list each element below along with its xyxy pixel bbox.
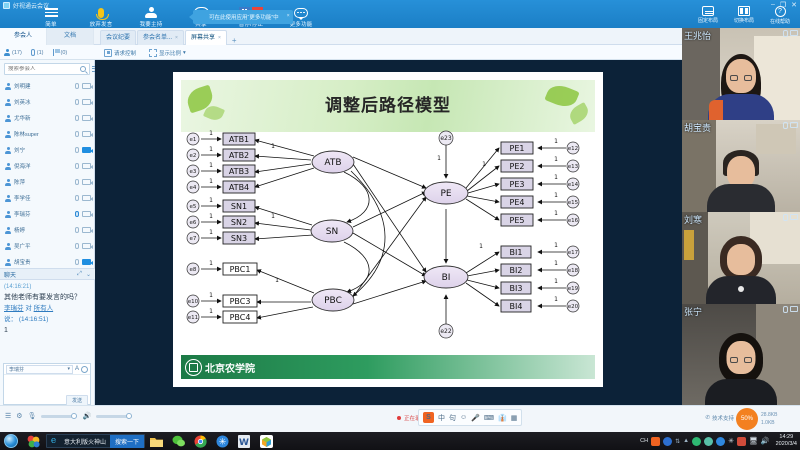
svg-text:e19: e19 (568, 286, 579, 292)
list-item[interactable]: 陈林super (0, 126, 95, 142)
participant-name: 胡宝贵 (14, 258, 72, 266)
svg-text:1: 1 (554, 260, 558, 267)
volume-icon[interactable]: 🔊 (761, 437, 770, 445)
send-button[interactable]: 发送 (66, 395, 88, 406)
svg-text:1: 1 (209, 213, 213, 220)
shared-screen-stage[interactable]: 调整后路径模型 (95, 60, 682, 405)
svg-text:1: 1 (554, 156, 558, 163)
svg-text:1: 1 (209, 130, 213, 137)
audio-controls: ☰ ⚙ 🎙 🔊 (5, 412, 132, 420)
display-ratio-button[interactable]: 显示比例 ▾ (149, 49, 186, 57)
video-column: 王兆怡 胡宝贵 (682, 28, 800, 405)
camera-icon[interactable] (790, 122, 798, 128)
svg-text:e18: e18 (568, 268, 579, 274)
svg-text:ATB: ATB (324, 158, 341, 168)
camera-icon[interactable] (82, 99, 91, 105)
record-dot-icon (397, 416, 401, 420)
tab-strip: 参会人 文档 会议纪要 参会名单... × 屏幕共享 × + (0, 28, 800, 45)
avatar-icon (5, 99, 11, 106)
camera-icon[interactable] (82, 115, 91, 121)
participant-name: 尤华新 (14, 114, 72, 122)
svg-text:1: 1 (209, 146, 213, 153)
camera-icon[interactable] (82, 163, 91, 169)
toolbar-button-become-host[interactable]: 我要主持 (126, 6, 176, 28)
mic-icon[interactable] (783, 306, 788, 313)
participant-name: 倪海洋 (14, 162, 72, 170)
layout-fixed-icon (702, 6, 714, 16)
chat-input-area: 李瑞芬 ▾ A 发送 (3, 363, 91, 405)
svg-text:PE5: PE5 (510, 216, 525, 225)
left-panel: 刘明建 刘英冰 尤华新 陈林sup (0, 60, 95, 405)
message-text: 其他老师有要发言的吗？ (4, 292, 91, 303)
toolbar-label: 切换布局 (734, 17, 754, 24)
list-item[interactable]: 吴广平 (0, 238, 95, 254)
minimize-icon[interactable]: – (771, 1, 775, 9)
camera-icon[interactable] (790, 30, 798, 36)
svg-text:e16: e16 (568, 218, 579, 224)
svg-text:1: 1 (209, 292, 213, 299)
count-raised-hands: (0) (53, 49, 68, 56)
toolbar-button-give-up-speaking[interactable]: 放弃发言 (76, 6, 126, 28)
svg-text:BI3: BI3 (510, 284, 523, 293)
speaker-icon[interactable]: 🔊 (82, 412, 91, 420)
tech-support-label: 技术支持 (712, 414, 734, 422)
participant-name: 刘宁 (14, 146, 72, 154)
sogou-icon[interactable] (651, 437, 660, 446)
chat-target-value: 李瑞芬 (9, 366, 24, 373)
svg-text:1: 1 (554, 278, 558, 285)
video-tile[interactable]: 王兆怡 (682, 28, 800, 120)
list-icon[interactable]: ☰ (5, 412, 11, 420)
screen: 好视通云会议 简单 放弃发言 我要主持 (0, 0, 800, 450)
list-item[interactable]: 倪海洋 (0, 158, 95, 174)
chat-header: 聊天 ⤢ ⌄ (0, 268, 95, 280)
svg-text:1: 1 (479, 243, 483, 250)
close-icon[interactable]: × (287, 13, 290, 19)
avatar-icon (5, 179, 11, 186)
main-toolbar: 好视通云会议 简单 放弃发言 我要主持 (0, 0, 800, 28)
mic-icon[interactable] (783, 122, 788, 129)
mic-icon[interactable] (783, 214, 788, 221)
toolbar-button-switch-layout[interactable]: 切换布局 (726, 6, 762, 25)
path-model-svg: e1e2 e3e4 e5e6 e7e8 e10e11 (181, 130, 595, 340)
ime-mode[interactable]: 中 (438, 413, 445, 423)
word-icon[interactable]: W (233, 432, 255, 450)
display-ratio-icon (149, 49, 157, 57)
asterisk-icon[interactable]: ✳ (728, 437, 734, 445)
message-time: (14:16:21) (4, 282, 91, 292)
person-icon (4, 49, 10, 56)
list-item[interactable]: 刘英冰 (0, 94, 95, 110)
svg-text:1: 1 (554, 210, 558, 217)
avatar-icon (5, 131, 11, 138)
message-text: 1 (4, 325, 91, 336)
star-app-icon[interactable]: ✳ (211, 432, 233, 450)
chevron-up-icon[interactable]: ▲ (683, 438, 689, 444)
svg-text:PBC4: PBC4 (230, 313, 251, 322)
svg-text:ATB3: ATB3 (229, 167, 249, 176)
count-value: (17) (12, 50, 22, 56)
chat-target-select[interactable]: 李瑞芬 ▾ (6, 365, 73, 374)
count-value: (0) (61, 50, 68, 56)
ime-voice-icon[interactable]: 🎤 (471, 414, 480, 422)
svg-text:BI4: BI4 (510, 302, 523, 311)
toolbar-label: 简单 (45, 20, 56, 28)
svg-text:ATB2: ATB2 (229, 151, 249, 160)
app-bottom-bar: ☰ ⚙ 🎙 🔊 正在录制 00:47:17 S 中 句 ☺ 🎤 ⌨ 👔 ▦ (0, 405, 800, 432)
mic-icon[interactable] (75, 99, 79, 105)
monitor-icon[interactable]: 🖥 (749, 437, 758, 445)
phone-icon: ✆ (705, 415, 710, 421)
svg-text:e4: e4 (190, 185, 197, 191)
message-say-line: 说： (14:16:51) (4, 314, 91, 325)
ime-punct-icon[interactable]: 句 (449, 413, 456, 423)
camera-icon[interactable] (82, 179, 91, 185)
tech-support[interactable]: ✆ 技术支持 (705, 414, 734, 422)
avatar-icon (5, 163, 11, 170)
tooltip-banner-text: 可在此使用应用“更多功能”中 (209, 13, 279, 21)
chevron-down-icon[interactable]: ▾ (183, 50, 186, 56)
message-sender-line: 李瑞芬 对 所有人 (4, 303, 91, 314)
app-logo-icon (3, 2, 10, 9)
wps-icon[interactable] (255, 432, 277, 450)
toolbar-label: 我要主持 (140, 20, 163, 28)
svg-text:ATB1: ATB1 (229, 135, 249, 144)
svg-text:PE3: PE3 (510, 180, 525, 189)
svg-text:e7: e7 (190, 236, 197, 242)
sogou-icon[interactable]: S (423, 412, 434, 423)
list-item[interactable]: 尤华新 (0, 110, 95, 126)
svg-text:e23: e23 (440, 135, 452, 142)
svg-text:1: 1 (275, 277, 279, 284)
star-icon[interactable] (716, 437, 725, 446)
tray-ime-label[interactable]: CH (640, 438, 648, 444)
window-controls: – ❐ ✕ (771, 1, 797, 9)
chevron-down-icon[interactable]: ▾ (67, 366, 70, 372)
message-target[interactable]: 所有人 (34, 305, 54, 312)
display-ratio-label: 显示比例 (159, 49, 181, 57)
svg-text:1: 1 (554, 296, 558, 303)
mic-icon[interactable] (75, 115, 79, 121)
video-participant-name: 刘寒 (684, 213, 702, 226)
avatar-icon (5, 211, 11, 218)
font-icon[interactable]: A (75, 366, 79, 372)
video-status (783, 122, 798, 129)
ime-toolbar[interactable]: S 中 句 ☺ 🎤 ⌨ 👔 ▦ (418, 409, 522, 426)
svg-text:e3: e3 (190, 169, 197, 175)
svg-text:1: 1 (271, 213, 275, 220)
list-item[interactable]: 陈萍 (0, 174, 95, 190)
avatar-icon (5, 259, 11, 266)
mic-icon[interactable] (75, 83, 79, 89)
microphone-icon (98, 6, 104, 19)
video-participant-name: 王兆怡 (684, 29, 711, 42)
avatar-icon (5, 147, 11, 154)
share-controls: 请求控制 显示比例 ▾ (104, 45, 186, 60)
count-speaking: (1) (31, 49, 44, 56)
emoji-icon[interactable] (81, 366, 88, 373)
doc-tab-label: 会议纪要 (106, 31, 130, 46)
svg-text:W: W (239, 438, 249, 448)
svg-text:PBC3: PBC3 (230, 297, 251, 306)
camera-icon[interactable] (82, 147, 91, 153)
updown-icon[interactable]: ⇅ (675, 438, 680, 445)
flag-icon (53, 49, 59, 56)
camera-icon[interactable] (82, 243, 91, 249)
search-icon[interactable] (80, 66, 86, 72)
svg-text:1: 1 (554, 192, 558, 199)
svg-text:SN3: SN3 (231, 234, 247, 243)
avatar-icon (5, 227, 11, 234)
video-participant-name: 张宁 (684, 305, 702, 318)
chat-title: 聊天 (4, 270, 16, 279)
mic-icon[interactable] (75, 243, 79, 249)
chat-messages: (14:16:21) 其他老师有要发言的吗？ 李瑞芬 对 所有人 说： (14:… (0, 280, 95, 361)
svg-text:1: 1 (209, 162, 213, 169)
video-tile[interactable]: 刘寒 (682, 212, 800, 304)
meeting-app-window: 好视通云会议 简单 放弃发言 我要主持 (0, 0, 800, 432)
svg-text:e20: e20 (568, 304, 579, 310)
message-to-word: 对 (25, 305, 32, 312)
participant-list[interactable]: 刘明建 刘英冰 尤华新 陈林sup (0, 78, 95, 268)
cloud-icon[interactable] (704, 437, 713, 446)
mic-icon[interactable] (75, 195, 79, 201)
participant-name: 杨婷 (14, 226, 72, 234)
svg-text:e15: e15 (568, 200, 579, 206)
mic-icon[interactable] (75, 259, 79, 265)
expand-icon[interactable]: ⤢ (77, 271, 82, 278)
list-item[interactable]: 杨婷 (0, 222, 95, 238)
count-participants: (17) (4, 49, 22, 56)
search-button[interactable]: 搜索一下 (110, 435, 144, 448)
participant-name: 陈林super (14, 130, 72, 138)
mic-icon[interactable] (75, 227, 79, 233)
path-model-diagram: e1e2 e3e4 e5e6 e7e8 e10e11 (181, 130, 595, 340)
chrome-icon[interactable] (189, 432, 211, 450)
svg-text:BI2: BI2 (510, 266, 523, 275)
svg-text:1: 1 (209, 229, 213, 236)
tab-documents[interactable]: 文档 (47, 28, 94, 45)
svg-text:e11: e11 (188, 315, 198, 321)
svg-text:e8: e8 (190, 267, 197, 273)
maximize-icon[interactable]: ❐ (780, 1, 786, 9)
participant-search[interactable] (4, 63, 90, 75)
list-item[interactable]: 李瑞芬 (0, 206, 95, 222)
svg-text:e5: e5 (190, 204, 197, 210)
mic-icon[interactable] (75, 211, 79, 217)
camera-icon[interactable] (82, 83, 91, 89)
tooltip-banner: 可在此使用应用“更多功能”中 × (193, 10, 293, 24)
microphone-icon[interactable]: 🎙 (28, 412, 37, 420)
speaker-volume-slider[interactable] (96, 415, 132, 418)
svg-text:1: 1 (209, 178, 213, 185)
participant-name: 刘英冰 (14, 98, 72, 106)
windows-start-icon[interactable] (0, 432, 22, 450)
svg-text:1: 1 (554, 138, 558, 145)
doc-tab-screen-share[interactable]: 屏幕共享 × (185, 30, 227, 45)
svg-text:1: 1 (554, 242, 558, 249)
toolbar-label: 放弃发言 (90, 20, 113, 28)
ime-emoji-icon[interactable]: ☺ (460, 414, 467, 421)
host-icon (144, 6, 158, 19)
svg-text:1: 1 (554, 174, 558, 181)
camera-icon[interactable] (82, 131, 91, 137)
svg-text:1: 1 (209, 260, 213, 267)
video-participant-name: 胡宝贵 (684, 121, 711, 134)
video-status (783, 214, 798, 221)
folder-icon[interactable] (145, 432, 167, 450)
search-input[interactable] (8, 66, 80, 72)
doc-tab-label: 参会名单... (143, 31, 172, 46)
system-tray: CH ⇅ ▲ ✳ 🖥 🔊 14:29 2020/3/4 (640, 432, 800, 450)
network-icon[interactable] (737, 437, 746, 446)
hamburger-icon (45, 6, 58, 19)
tab-participants[interactable]: 参会人 (0, 28, 47, 45)
svg-text:PE: PE (440, 189, 451, 199)
svg-text:PE1: PE1 (510, 144, 525, 153)
svg-text:1: 1 (482, 161, 486, 168)
svg-text:PBC: PBC (324, 296, 342, 306)
toolbar-button-fixed-layout[interactable]: 固定布局 (690, 6, 726, 25)
svg-text:1: 1 (209, 308, 213, 315)
clock-date: 2020/3/4 (776, 441, 797, 448)
svg-text:e6: e6 (190, 220, 197, 226)
mic-icon[interactable] (783, 30, 788, 37)
gear-icon[interactable]: ⚙ (16, 412, 22, 420)
slide-header: 调整后路径模型 (181, 80, 595, 132)
mic-icon[interactable] (75, 179, 79, 185)
svg-text:e12: e12 (568, 146, 578, 152)
svg-text:ATB4: ATB4 (229, 183, 249, 192)
camera-icon[interactable] (82, 195, 91, 201)
svg-text:✳: ✳ (218, 437, 226, 447)
avatar-icon (5, 115, 11, 122)
mic-volume-slider[interactable] (41, 415, 77, 418)
toolbar-button-menu[interactable]: 简单 (26, 6, 76, 28)
video-tile[interactable]: 胡宝贵 (682, 120, 800, 212)
list-item[interactable]: 李学佳 (0, 190, 95, 206)
svg-text:e17: e17 (568, 250, 579, 256)
internet-explorer-icon: e (47, 436, 60, 446)
video-scene (682, 304, 800, 405)
close-icon[interactable]: ✕ (791, 1, 797, 9)
network-battery-widget[interactable]: 50% 28.8KB 1.0KB (736, 407, 794, 431)
university-logo-icon (185, 359, 202, 376)
list-item[interactable]: 刘宁 (0, 142, 95, 158)
message-time: (14:16:51) (19, 316, 49, 323)
participant-name: 李学佳 (14, 194, 72, 202)
panel-tabs: 参会人 文档 (0, 28, 94, 45)
university-name: 北京农学院 (205, 360, 255, 375)
svg-text:SN1: SN1 (231, 202, 247, 211)
doc-tab-minutes[interactable]: 会议纪要 (100, 30, 136, 45)
layout-switch-icon (738, 6, 750, 16)
request-control-icon (104, 49, 112, 57)
mic-icon[interactable] (75, 147, 79, 153)
slide-title: 调整后路径模型 (181, 91, 595, 116)
svg-text:BI1: BI1 (510, 248, 523, 257)
message-say-word: 说： (4, 316, 17, 323)
toolbar-label: 更多功能 (290, 20, 313, 28)
chat-text-input[interactable] (4, 375, 90, 395)
camera-icon[interactable] (790, 306, 798, 312)
wechat-icon[interactable] (167, 432, 189, 450)
taskbar-clock[interactable]: 14:29 2020/3/4 (773, 434, 797, 448)
ime-toolbox-icon[interactable]: ▦ (511, 414, 518, 422)
participant-name: 吴广平 (14, 242, 72, 250)
camera-icon[interactable] (82, 259, 91, 265)
media-player-icon[interactable] (22, 432, 44, 450)
toolbar-label: 在线帮助 (770, 18, 790, 25)
camera-icon[interactable] (790, 214, 798, 220)
toolbar-label: 固定布局 (698, 17, 718, 24)
video-tile[interactable]: 张宁 (682, 304, 800, 405)
video-status (783, 306, 798, 313)
windows-taskbar: e 意大利版火神山 搜索一下 ✳ W CH ⇅ ▲ (0, 432, 800, 450)
doc-tab-label: 屏幕共享 (191, 31, 215, 46)
ime-keyboard-icon[interactable]: ⌨ (484, 414, 494, 422)
ie-search-box[interactable]: e 意大利版火神山 搜索一下 (46, 434, 145, 448)
message-sender[interactable]: 李瑞芬 (4, 305, 24, 312)
upload-speed: 28.8KB (761, 411, 777, 419)
avatar-icon (5, 83, 11, 90)
svg-text:e13: e13 (568, 164, 579, 170)
avatar-icon (5, 195, 11, 202)
svg-text:e14: e14 (568, 182, 579, 188)
chevron-down-icon[interactable]: ⌄ (86, 271, 91, 278)
ime-skin-icon[interactable]: 👔 (498, 414, 507, 422)
chat-send-row: 发送 (4, 395, 90, 405)
request-control-label: 请求控制 (114, 49, 136, 57)
mic-icon[interactable] (75, 131, 79, 137)
sub-toolbar: (17) (1) (0) 请求控制 显示比例 (0, 45, 800, 60)
list-item[interactable]: 胡宝贵 (0, 254, 95, 268)
doc-tab-attendee-list[interactable]: 参会名单... × (137, 30, 184, 45)
chat-input-toolbar: 李瑞芬 ▾ A (4, 364, 90, 375)
participant-name: 李瑞芬 (14, 210, 72, 218)
svg-text:e22: e22 (440, 328, 452, 335)
search-query[interactable]: 意大利版火神山 (60, 437, 110, 446)
svg-text:e1: e1 (190, 137, 197, 143)
qq-icon[interactable] (663, 437, 672, 446)
svg-text:PE4: PE4 (510, 198, 525, 207)
svg-text:PBC1: PBC1 (230, 265, 251, 274)
mic-icon[interactable] (75, 163, 79, 169)
svg-text:1: 1 (271, 143, 275, 150)
close-icon[interactable]: × (218, 31, 221, 46)
svg-text:e10: e10 (188, 299, 199, 305)
camera-icon[interactable] (82, 211, 91, 217)
count-value: (1) (37, 50, 44, 56)
add-tab-button[interactable]: + (228, 36, 241, 45)
video-status (783, 30, 798, 37)
request-control-button[interactable]: 请求控制 (104, 49, 136, 57)
shield-icon[interactable] (692, 437, 701, 446)
clock-time: 14:29 (776, 434, 797, 441)
list-item[interactable]: 刘明建 (0, 78, 95, 94)
close-icon[interactable]: × (175, 31, 178, 46)
slide-footer: 北京农学院 (181, 355, 595, 379)
svg-text:1: 1 (209, 197, 213, 204)
download-speed: 1.0KB (761, 419, 777, 427)
participant-name: 陈萍 (14, 178, 72, 186)
camera-icon[interactable] (82, 227, 91, 233)
presentation-slide: 调整后路径模型 (173, 72, 603, 387)
svg-text:SN: SN (326, 227, 338, 237)
avatar-icon (5, 243, 11, 250)
battery-ring: 50% (736, 408, 758, 430)
svg-text:1: 1 (437, 155, 441, 162)
